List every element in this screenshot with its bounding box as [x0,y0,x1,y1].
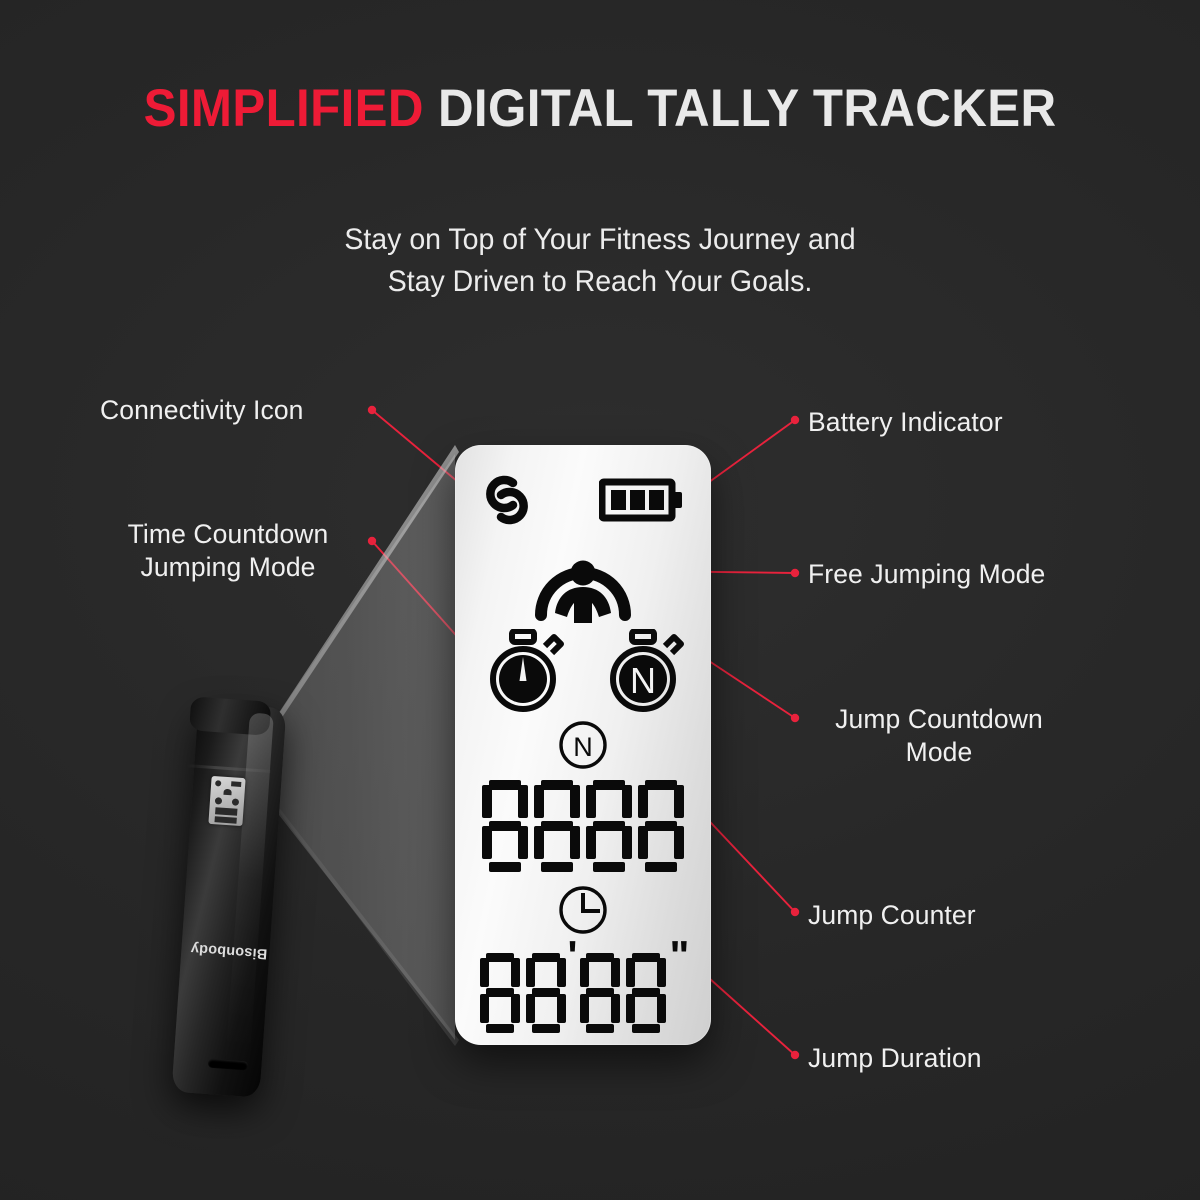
counter-digit-2 [534,780,580,872]
battery-icon [599,475,685,525]
duration-digit-2 [526,953,566,1033]
display-count-badge-row: N [455,717,711,773]
counter-digit-4 [638,780,684,872]
callout-label-free-jumping: Free Jumping Mode [808,558,1045,591]
infographic-stage: SIMPLIFIED DIGITAL TALLY TRACKER Stay on… [0,0,1200,1200]
minute-mark: ' [568,935,578,977]
jump-counter-display [455,771,711,881]
leader-dot-battery [791,416,799,424]
display-mode-row: N [455,627,711,715]
jump-duration-display: ' " [455,939,711,1045]
svg-text:N: N [573,732,593,762]
display-free-jumping-row [455,541,711,627]
leader-dot-jump-counter [791,908,799,916]
svg-text:N: N [630,660,656,701]
counter-digit-3 [586,780,632,872]
callout-label-connectivity: Connectivity Icon [100,394,304,427]
chain-link-icon [481,471,533,529]
duration-digit-4 [626,953,666,1033]
callout-label-jump-countdown-line1: Jump Countdown [808,703,1070,736]
stopwatch-needle-icon [481,629,565,713]
battery-bar-1 [611,490,626,510]
display-panel: N N ' [455,445,711,1045]
leader-dot-jump-countdown [791,714,799,722]
leader-dot-jump-duration [791,1051,799,1059]
callout-label-jump-countdown-line2: Mode [808,736,1070,769]
callout-label-jump-countdown: Jump Countdown Mode [808,703,1070,769]
duration-digit-1 [480,953,520,1033]
handle-mini-screen [208,776,245,826]
clock-icon [556,883,610,937]
callout-label-jump-counter: Jump Counter [808,899,976,932]
person-under-rope-arc-icon [533,543,633,625]
display-clock-row [455,881,711,939]
circled-n-icon: N [557,719,609,771]
display-status-row [455,469,711,531]
jump-rope-handle: Bisonbody [185,705,273,1095]
duration-digit-3 [580,953,620,1033]
battery-bar-3 [649,490,664,510]
callout-label-battery: Battery Indicator [808,406,1003,439]
battery-bar-2 [630,490,645,510]
second-mark: " [670,935,690,977]
callout-label-jump-duration: Jump Duration [808,1042,982,1075]
leader-dot-connectivity [368,406,376,414]
stopwatch-n-icon: N [601,629,685,713]
counter-digit-1 [482,780,528,872]
leader-dot-free-jumping [791,569,799,577]
